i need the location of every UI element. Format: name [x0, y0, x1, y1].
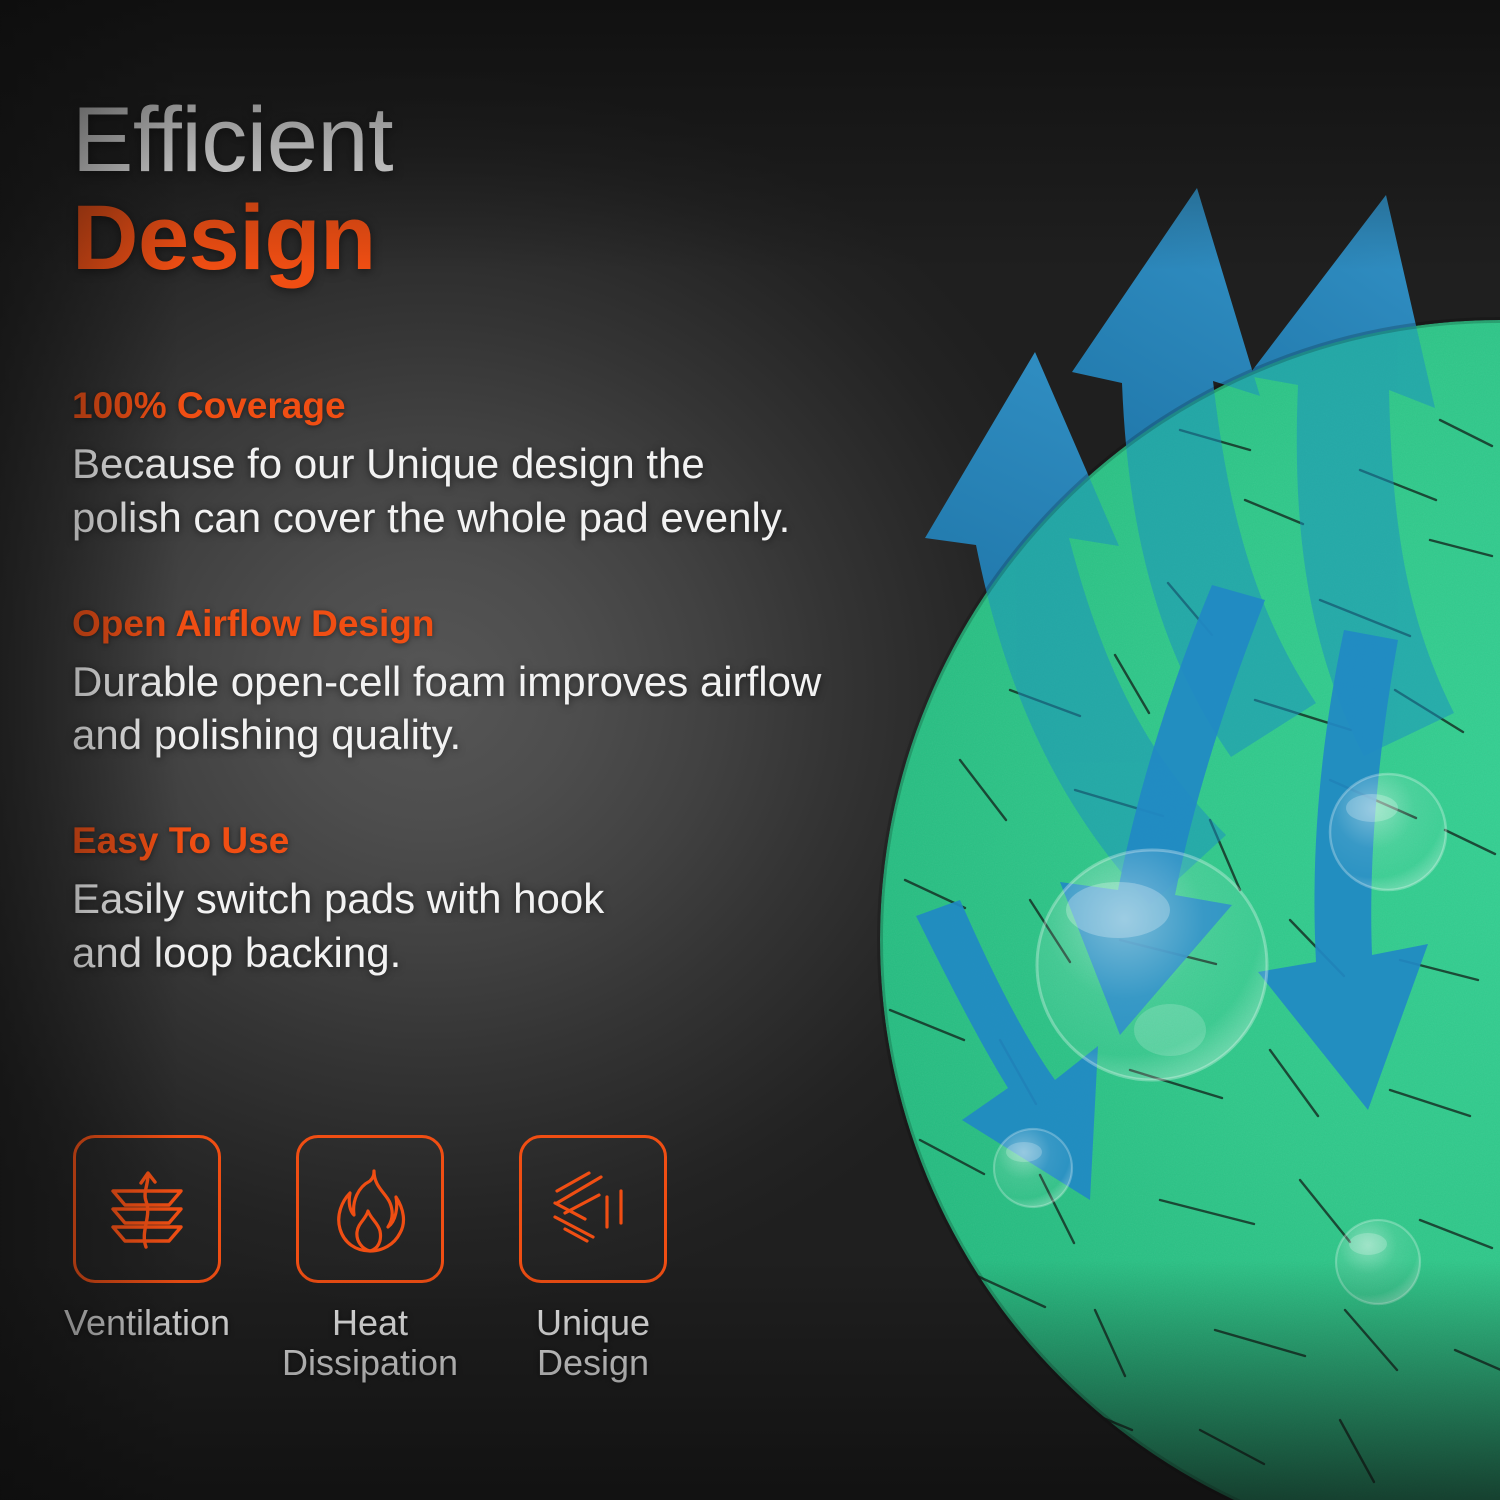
infographic-root: Efficient Design 100% Coverage Because f… [0, 0, 1500, 1500]
background-vignette [0, 0, 1500, 1500]
